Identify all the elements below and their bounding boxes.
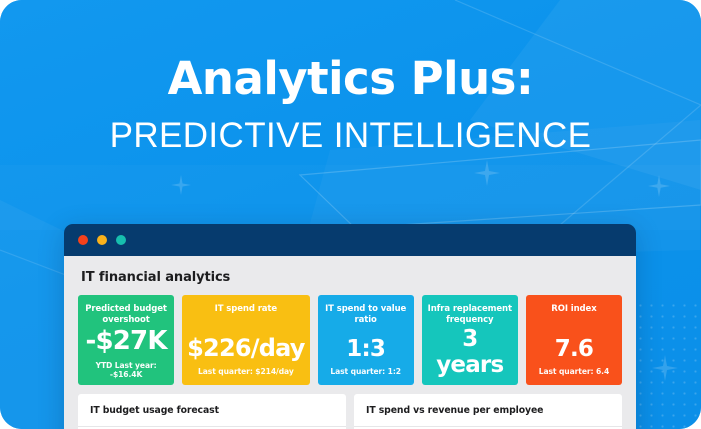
kpi-card[interactable]: IT spend to value ratio 1:3 Last quarter… [318, 295, 414, 385]
promo-banner: Analytics Plus: PREDICTIVE INTELLIGENCE … [0, 0, 701, 429]
chart-panel-title: IT spend vs revenue per employee [354, 394, 622, 416]
kpi-subtext: Last quarter: 6.4 [539, 367, 609, 376]
chart-panel-title: IT budget usage forecast [78, 394, 346, 416]
kpi-subtext: YTD Last year: -$16.4K [83, 361, 169, 379]
sparkle-icon [648, 175, 670, 197]
kpi-card[interactable]: IT spend rate $226/day Last quarter: $21… [182, 295, 309, 385]
kpi-value: $226/day [187, 334, 304, 362]
kpi-card-row: Predicted budget overshoot -$27K YTD Las… [78, 295, 622, 385]
dashboard-window: IT financial analytics Predicted budget … [64, 224, 636, 429]
sparkle-icon [474, 160, 500, 186]
kpi-label: IT spend rate [215, 304, 277, 315]
dashboard-body: IT financial analytics Predicted budget … [64, 256, 636, 429]
kpi-label: Infra replacement frequency [427, 304, 513, 326]
page-title: IT financial analytics [81, 270, 622, 285]
sparkle-icon [652, 355, 678, 381]
kpi-subtext: Last quarter: 1:2 [330, 367, 401, 376]
close-icon[interactable] [78, 235, 88, 245]
chart-panel[interactable]: IT spend vs revenue per employee [354, 394, 622, 429]
kpi-label: IT spend to value ratio [323, 304, 409, 326]
kpi-value: 1:3 [346, 336, 385, 362]
minimize-icon[interactable] [97, 235, 107, 245]
kpi-subtext: Last quarter: $214/day [198, 367, 294, 376]
kpi-card[interactable]: Infra replacement frequency 3 years [422, 295, 518, 385]
kpi-value: 3 years [427, 326, 513, 378]
divider [354, 426, 622, 427]
window-titlebar [64, 224, 636, 256]
kpi-value: 7.6 [555, 336, 593, 362]
kpi-label: ROI index [551, 304, 596, 315]
chart-panel-row: IT budget usage forecast IT spend vs rev… [78, 394, 622, 429]
kpi-value: -$27K [85, 326, 166, 356]
kpi-card[interactable]: ROI index 7.6 Last quarter: 6.4 [526, 295, 622, 385]
kpi-label: Predicted budget overshoot [83, 304, 169, 326]
maximize-icon[interactable] [116, 235, 126, 245]
divider [78, 426, 346, 427]
kpi-card[interactable]: Predicted budget overshoot -$27K YTD Las… [78, 295, 174, 385]
chart-panel[interactable]: IT budget usage forecast [78, 394, 346, 429]
sparkle-icon [171, 175, 191, 195]
